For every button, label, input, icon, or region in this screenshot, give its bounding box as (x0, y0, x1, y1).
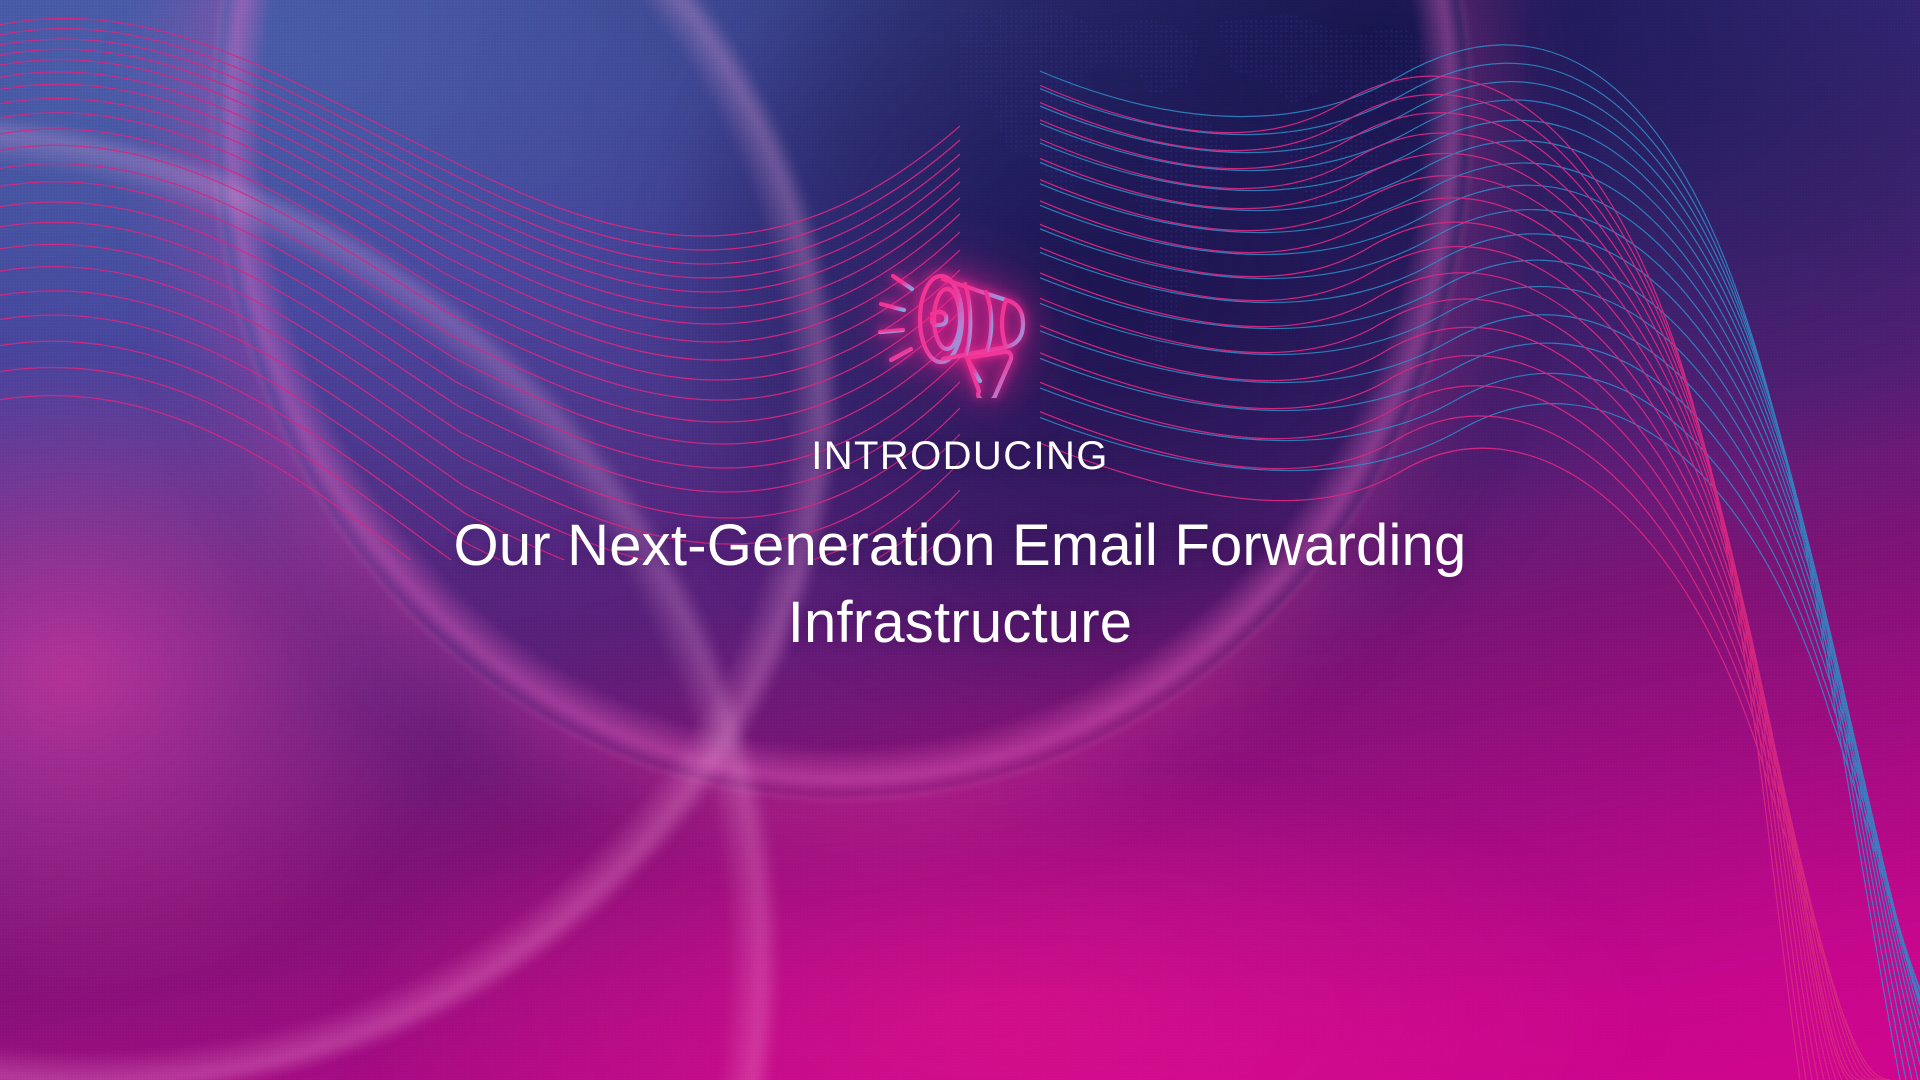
sound-wave-1 (893, 276, 912, 289)
sound-wave-3 (880, 330, 903, 332)
sound-wave-4 (891, 349, 911, 360)
hero-banner: INTRODUCING Our Next-Generation Email Fo… (0, 0, 1920, 1080)
hero-content: INTRODUCING Our Next-Generation Email Fo… (0, 0, 1920, 1080)
megaphone-rib-1 (965, 284, 970, 356)
megaphone-rib-2 (986, 292, 991, 352)
megaphone-barrel-cap (1002, 300, 1023, 347)
megaphone-cone-rim (920, 276, 962, 362)
page-title: Our Next-Generation Email Forwarding Inf… (454, 508, 1467, 661)
eyebrow-text: INTRODUCING (811, 436, 1109, 476)
megaphone-icon (877, 248, 1043, 398)
megaphone-handle (967, 352, 1011, 398)
headline-line-2: Infrastructure (454, 585, 1467, 662)
sound-wave-2 (881, 304, 904, 310)
headline-line-1: Our Next-Generation Email Forwarding (454, 508, 1467, 585)
